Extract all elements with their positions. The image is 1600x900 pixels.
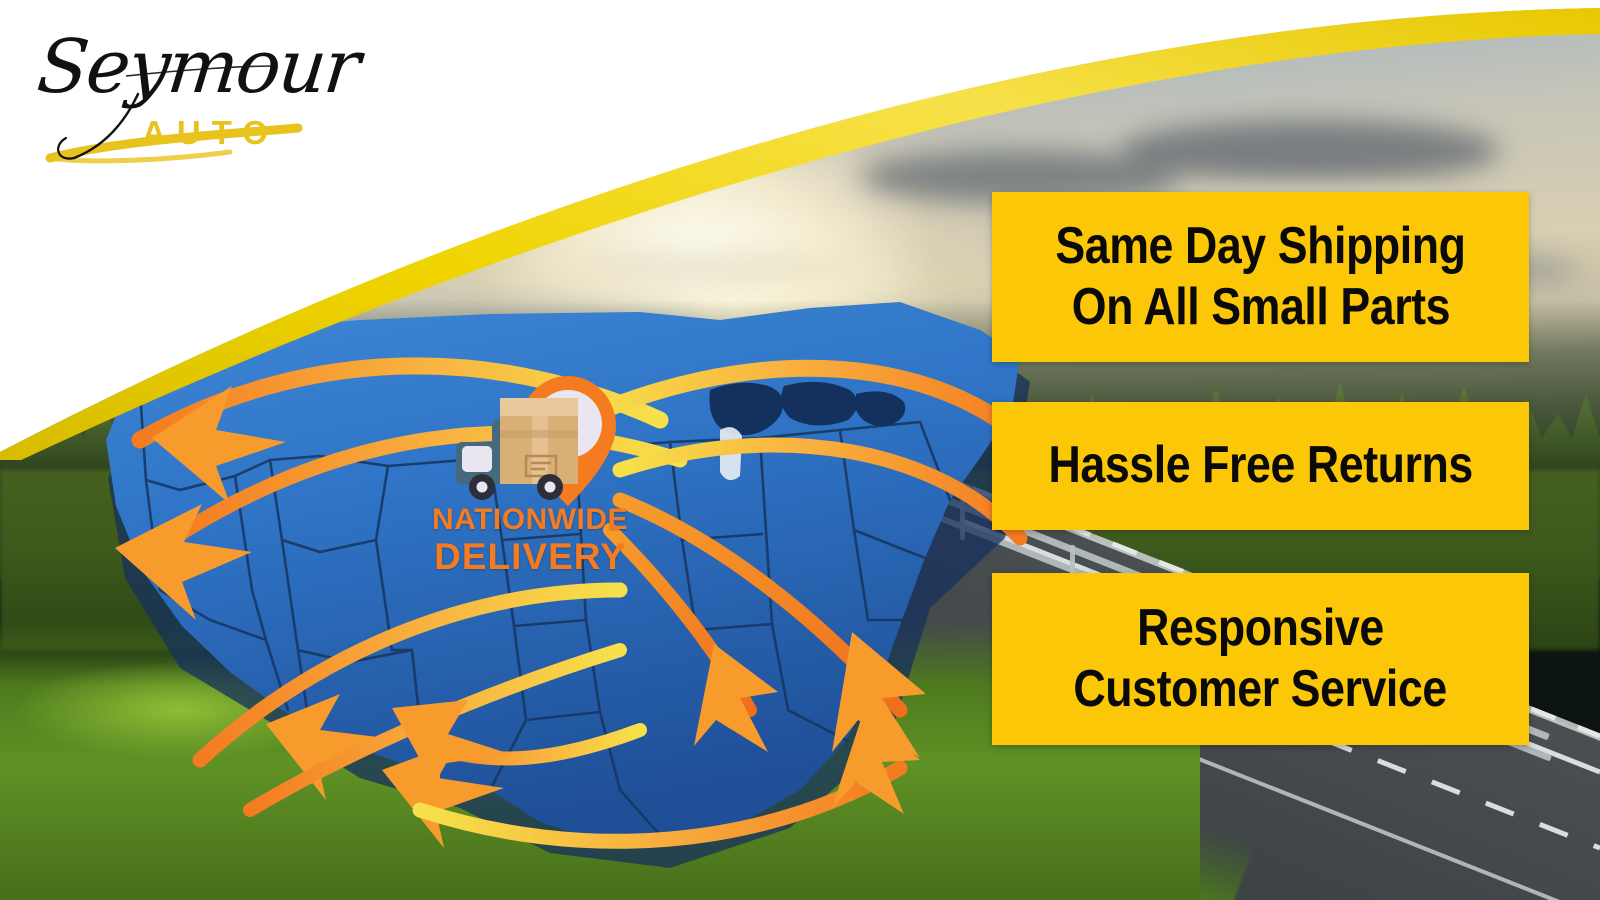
feature-line: Same Day Shipping bbox=[1055, 216, 1465, 277]
feature-box-hassle-free-returns[interactable]: Hassle Free Returns bbox=[992, 402, 1529, 530]
feature-line: Customer Service bbox=[1074, 659, 1447, 720]
feature-line: Hassle Free Returns bbox=[1048, 435, 1472, 496]
feature-line: On All Small Parts bbox=[1071, 277, 1449, 338]
logo-swoosh-icon bbox=[30, 18, 340, 168]
feature-line: Responsive bbox=[1137, 598, 1384, 659]
feature-box-responsive-customer-service[interactable]: Responsive Customer Service bbox=[992, 573, 1529, 745]
feature-box-same-day-shipping[interactable]: Same Day Shipping On All Small Parts bbox=[992, 192, 1529, 362]
nationwide-line-2: DELIVERY bbox=[430, 538, 630, 575]
promo-banner: NATIONWIDE DELIVERY Seymour AUTO Same D bbox=[0, 0, 1600, 900]
nationwide-line-1: NATIONWIDE bbox=[430, 505, 630, 535]
nationwide-delivery-label: NATIONWIDE DELIVERY bbox=[430, 505, 630, 575]
logo[interactable]: Seymour AUTO bbox=[30, 18, 340, 168]
